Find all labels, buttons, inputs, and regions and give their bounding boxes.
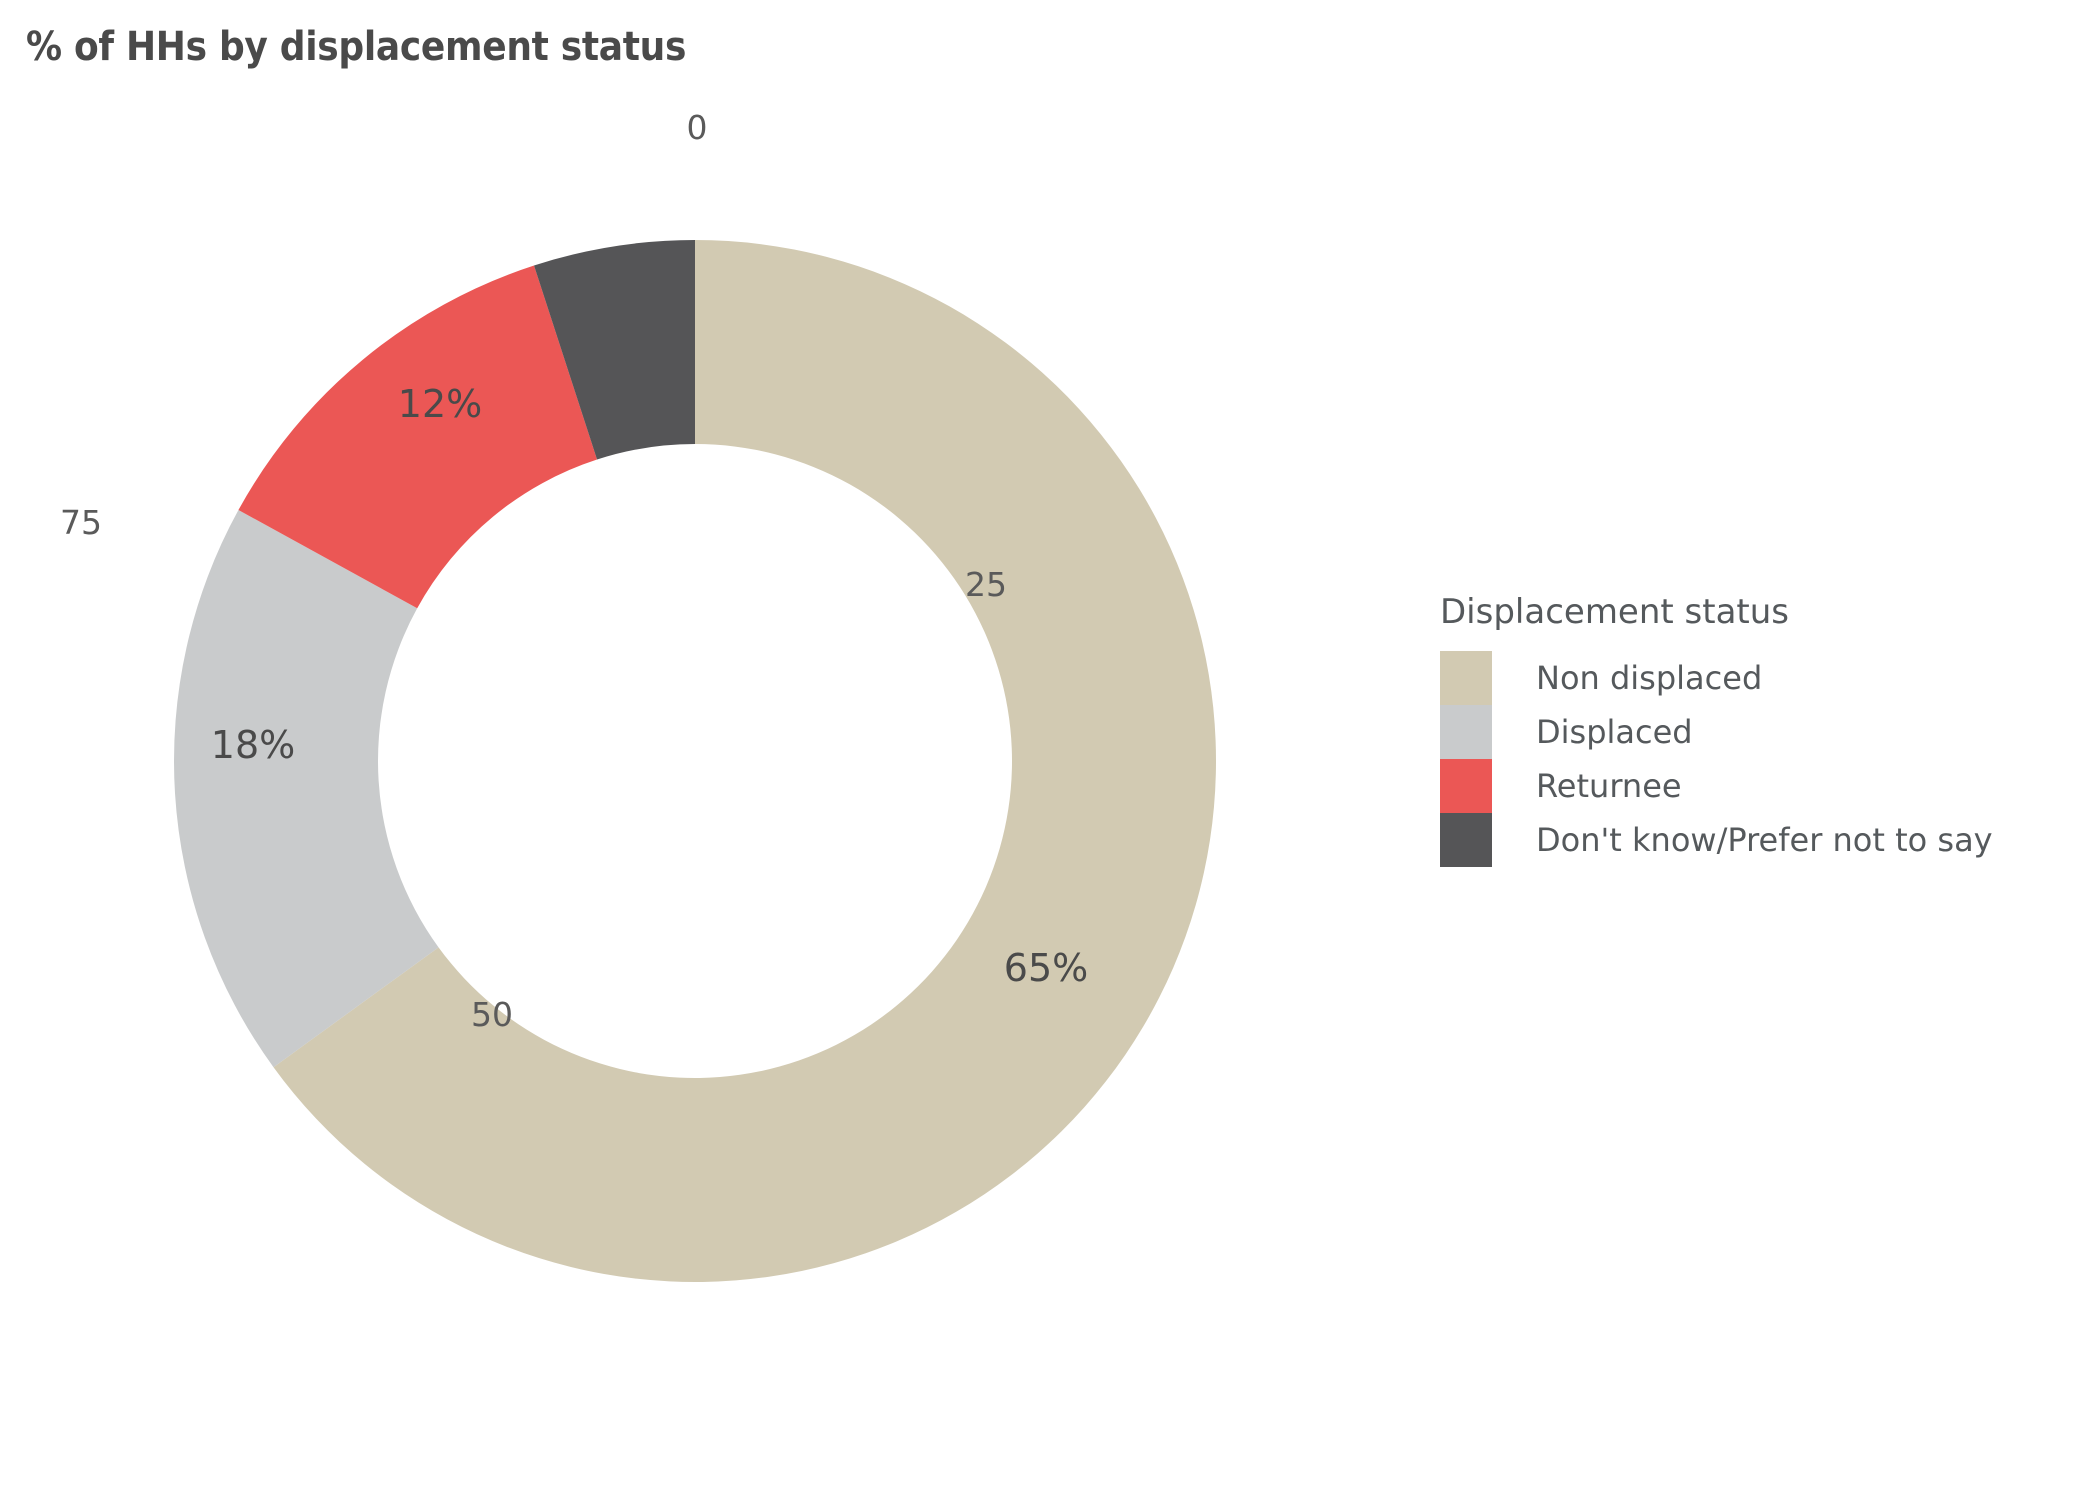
legend-item[interactable]: Displaced bbox=[1440, 705, 2060, 759]
legend-title: Displacement status bbox=[1440, 592, 2060, 632]
legend-item-label: Returnee bbox=[1536, 767, 1682, 805]
axis-tick-25: 25 bbox=[965, 565, 1007, 604]
legend-item[interactable]: Returnee bbox=[1440, 759, 2060, 813]
chart-canvas: % of HHs by displacement status 0 25 50 … bbox=[0, 0, 2100, 1500]
legend-color-swatch bbox=[1440, 759, 1492, 813]
legend-item-label: Displaced bbox=[1536, 713, 1693, 751]
legend: Displacement status Non displacedDisplac… bbox=[1440, 592, 2060, 867]
legend-item-label: Non displaced bbox=[1536, 659, 1762, 697]
legend-item-label: Don't know/Prefer not to say bbox=[1536, 821, 1993, 859]
slice-value-label: 18% bbox=[211, 723, 295, 767]
legend-color-swatch bbox=[1440, 705, 1492, 759]
legend-color-swatch bbox=[1440, 813, 1492, 867]
legend-item[interactable]: Non displaced bbox=[1440, 651, 2060, 705]
axis-tick-0: 0 bbox=[687, 108, 708, 147]
axis-tick-75: 75 bbox=[60, 503, 102, 542]
legend-item-list: Non displacedDisplacedReturneeDon't know… bbox=[1440, 651, 2060, 867]
donut-chart-plot-area: 0 25 50 75 65%18%12% bbox=[0, 0, 1400, 1500]
slice-value-label: 12% bbox=[398, 382, 482, 426]
axis-tick-50: 50 bbox=[471, 995, 513, 1034]
legend-color-swatch bbox=[1440, 651, 1492, 705]
donut-slice-group bbox=[174, 240, 1216, 1282]
slice-value-label: 65% bbox=[1004, 946, 1088, 990]
legend-item[interactable]: Don't know/Prefer not to say bbox=[1440, 813, 2060, 867]
